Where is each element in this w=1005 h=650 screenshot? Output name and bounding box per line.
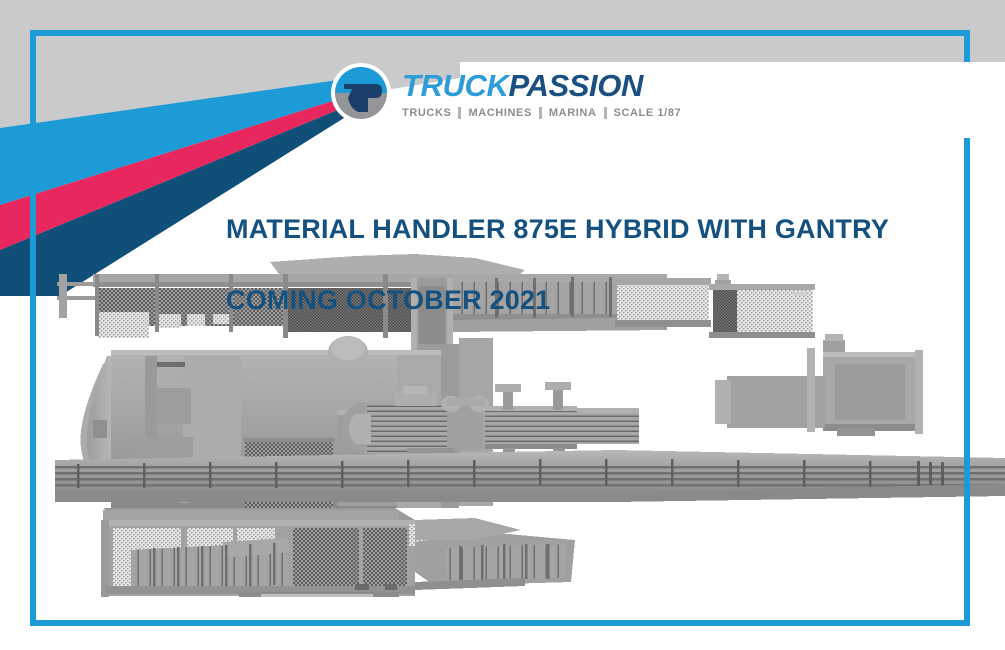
- main-boom-arm: [55, 450, 1005, 502]
- headline-line-1: MATERIAL HANDLER 875E HYBRID WITH GANTRY: [226, 212, 889, 248]
- tagline-scale: SCALE 1/87: [614, 107, 682, 119]
- wordmark: TRUCKPASSION: [402, 70, 681, 101]
- tagline-machines: MACHINES: [468, 107, 531, 119]
- frame-border-bottom: [30, 620, 970, 626]
- headline-block: MATERIAL HANDLER 875E HYBRID WITH GANTRY…: [226, 176, 889, 354]
- truckpassion-monogram-icon: [330, 62, 392, 124]
- frame-border-right-stub: [964, 30, 970, 62]
- wordmark-passion: PASSION: [509, 68, 643, 103]
- logo-tagline: TRUCKS MACHINES MARINA SCALE 1/87: [402, 107, 681, 119]
- frame-border-left: [30, 30, 36, 626]
- tagline-marina: MARINA: [549, 107, 597, 119]
- frame-border-top: [30, 30, 970, 36]
- tagline-separator-icon: [604, 107, 607, 119]
- promo-banner: TRUCKPASSION TRUCKS MACHINES MARINA SCAL…: [0, 0, 1005, 650]
- tagline-trucks: TRUCKS: [402, 107, 451, 119]
- wordmark-truck: TRUCK: [402, 68, 509, 103]
- frame-border-right: [964, 138, 970, 626]
- logo-text-block: TRUCKPASSION TRUCKS MACHINES MARINA SCAL…: [402, 67, 681, 119]
- brand-logo[interactable]: TRUCKPASSION TRUCKS MACHINES MARINA SCAL…: [330, 62, 681, 124]
- tagline-separator-icon: [539, 107, 542, 119]
- headline-line-2: COMING OCTOBER 2021: [226, 283, 889, 319]
- undercarriage-tracks: [101, 508, 575, 597]
- tagline-separator-icon: [458, 107, 461, 119]
